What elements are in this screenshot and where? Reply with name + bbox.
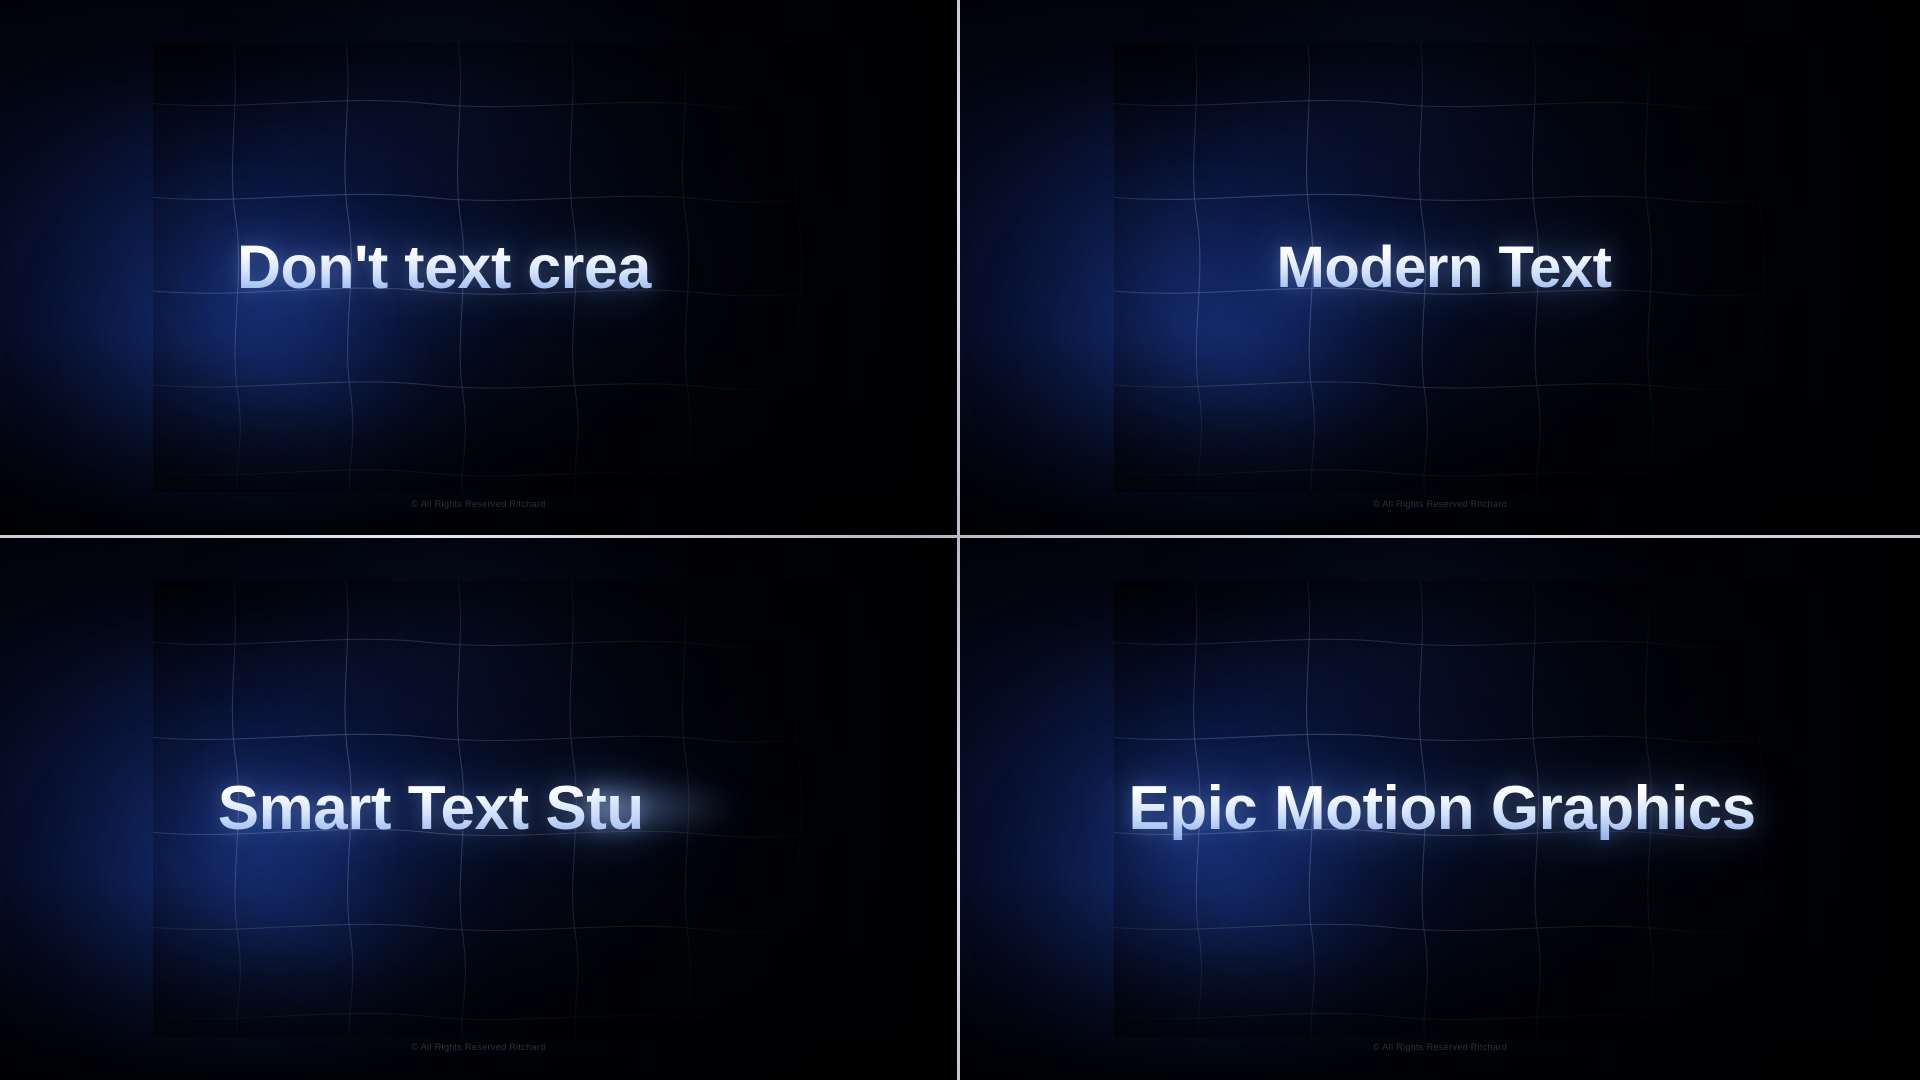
copyright-credit: © All Rights Reserved Ritchard	[960, 499, 1920, 509]
headline-rising-letter-2: e	[671, 211, 704, 272]
headline-row: Smart Text Studio	[0, 538, 957, 1080]
copyright-credit: © All Rights Reserved Ritchard	[960, 1042, 1920, 1052]
headline-static-text: Smart Text Stu	[218, 774, 644, 843]
headline-motion-blur-text: dio	[651, 778, 763, 840]
panel-headline-top-right: Modern Text	[1277, 239, 1612, 297]
headline-row: Don't text create	[0, 0, 957, 535]
panel-bottom-left[interactable]: Smart Text Studio © All Rights Reserved …	[0, 538, 957, 1080]
panel-bottom-right[interactable]: Epic Motion Graphics © All Rights Reserv…	[960, 538, 1920, 1080]
panel-top-right[interactable]: Modern Text © All Rights Reserved Ritcha…	[960, 0, 1920, 535]
headline-rising-letter-1: t	[651, 225, 671, 286]
headline-row: Epic Motion Graphics	[960, 538, 1920, 1080]
headline-row: Modern Text	[960, 0, 1920, 535]
panel-headline-bottom-right: Epic Motion Graphics	[1128, 778, 1755, 840]
copyright-credit: © All Rights Reserved Ritchard	[0, 1042, 957, 1052]
headline-static-text: Don't text crea	[237, 233, 651, 301]
preview-stage: Don't text create © All Rights Reserved …	[0, 0, 1920, 1080]
panel-divider-vertical	[957, 0, 960, 1080]
panel-headline-bottom-left: Smart Text Studio	[218, 778, 735, 840]
panel-headline-top-left: Don't text create	[237, 237, 704, 298]
panel-divider-horizontal	[0, 535, 1920, 538]
panel-top-left[interactable]: Don't text create © All Rights Reserved …	[0, 0, 957, 535]
copyright-credit: © All Rights Reserved Ritchard	[0, 499, 957, 509]
